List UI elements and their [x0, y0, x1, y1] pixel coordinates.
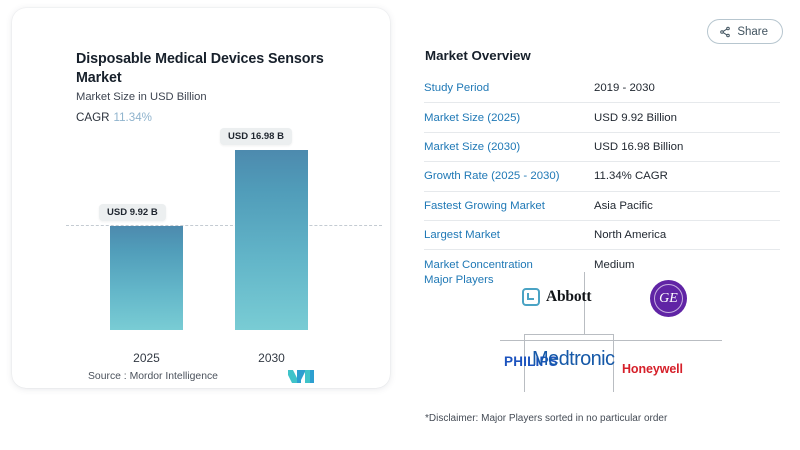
row-label: Market Size (2025) — [424, 112, 594, 124]
bar-chart-plot: USD 9.92 B USD 16.98 B 2025 2030 — [72, 133, 372, 348]
cagr-value: 11.34% — [114, 111, 152, 124]
row-value: Medium — [594, 259, 635, 271]
major-players-disclaimer: *Disclaimer: Major Players sorted in no … — [425, 413, 667, 424]
chart-cagr: CAGR11.34% — [76, 111, 152, 124]
row-value: 11.34% CAGR — [594, 170, 668, 182]
ge-logo: GE — [650, 280, 687, 317]
abbott-mark-icon — [522, 288, 540, 306]
table-row: Growth Rate (2025 - 2030) 11.34% CAGR — [424, 162, 780, 191]
ge-logo-text: GE — [654, 284, 683, 313]
grid-divider-horizontal — [500, 340, 722, 341]
row-label: Market Size (2030) — [424, 141, 594, 153]
major-players-title: Major Players — [424, 274, 494, 286]
bar-2030[interactable] — [235, 150, 308, 330]
table-row: Market Size (2030) USD 16.98 Billion — [424, 133, 780, 162]
market-overview-table: Study Period 2019 - 2030 Market Size (20… — [424, 74, 780, 280]
chart-title: Disposable Medical Devices Sensors Marke… — [76, 50, 366, 88]
row-value: North America — [594, 229, 666, 241]
grid-divider-box-top — [524, 334, 614, 335]
bar-value-badge-2030: USD 16.98 B — [220, 128, 292, 145]
abbott-logo-text: Abbott — [546, 288, 591, 306]
chart-subtitle: Market Size in USD Billion — [76, 91, 207, 103]
cagr-label: CAGR — [76, 111, 110, 124]
x-axis-label-2025: 2025 — [110, 351, 183, 365]
market-overview-title: Market Overview — [425, 48, 531, 63]
ge-circle-icon: GE — [650, 280, 687, 317]
table-row: Fastest Growing Market Asia Pacific — [424, 192, 780, 221]
row-label: Largest Market — [424, 229, 594, 241]
bar-2025[interactable] — [110, 226, 183, 330]
share-button-label: Share — [737, 26, 768, 38]
honeywell-logo: Honeywell — [622, 362, 683, 376]
row-label: Study Period — [424, 82, 594, 94]
table-row: Largest Market North America — [424, 221, 780, 250]
table-row: Market Size (2025) USD 9.92 Billion — [424, 103, 780, 132]
report-snapshot-page: Disposable Medical Devices Sensors Marke… — [0, 0, 800, 450]
share-button[interactable]: Share — [707, 19, 783, 44]
bar-value-badge-2025: USD 9.92 B — [99, 204, 166, 221]
row-value: 2019 - 2030 — [594, 82, 655, 94]
major-players-logo-grid: Abbott GE PHILIPS Medtronic Honeywell — [500, 272, 780, 392]
row-label: Growth Rate (2025 - 2030) — [424, 170, 594, 182]
x-axis-label-2030: 2030 — [235, 351, 308, 365]
row-label: Fastest Growing Market — [424, 200, 594, 212]
row-value: USD 16.98 Billion — [594, 141, 683, 153]
mordor-intelligence-logo — [288, 369, 314, 384]
row-label: Market Concentration — [424, 259, 594, 271]
medtronic-logo: Medtronic — [532, 348, 614, 371]
row-value: Asia Pacific — [594, 200, 653, 212]
abbott-logo: Abbott — [522, 288, 591, 306]
row-value: USD 9.92 Billion — [594, 112, 677, 124]
table-row: Study Period 2019 - 2030 — [424, 74, 780, 103]
chart-source: Source : Mordor Intelligence — [88, 371, 218, 382]
chart-card: Disposable Medical Devices Sensors Marke… — [12, 8, 390, 388]
share-icon — [719, 26, 731, 38]
